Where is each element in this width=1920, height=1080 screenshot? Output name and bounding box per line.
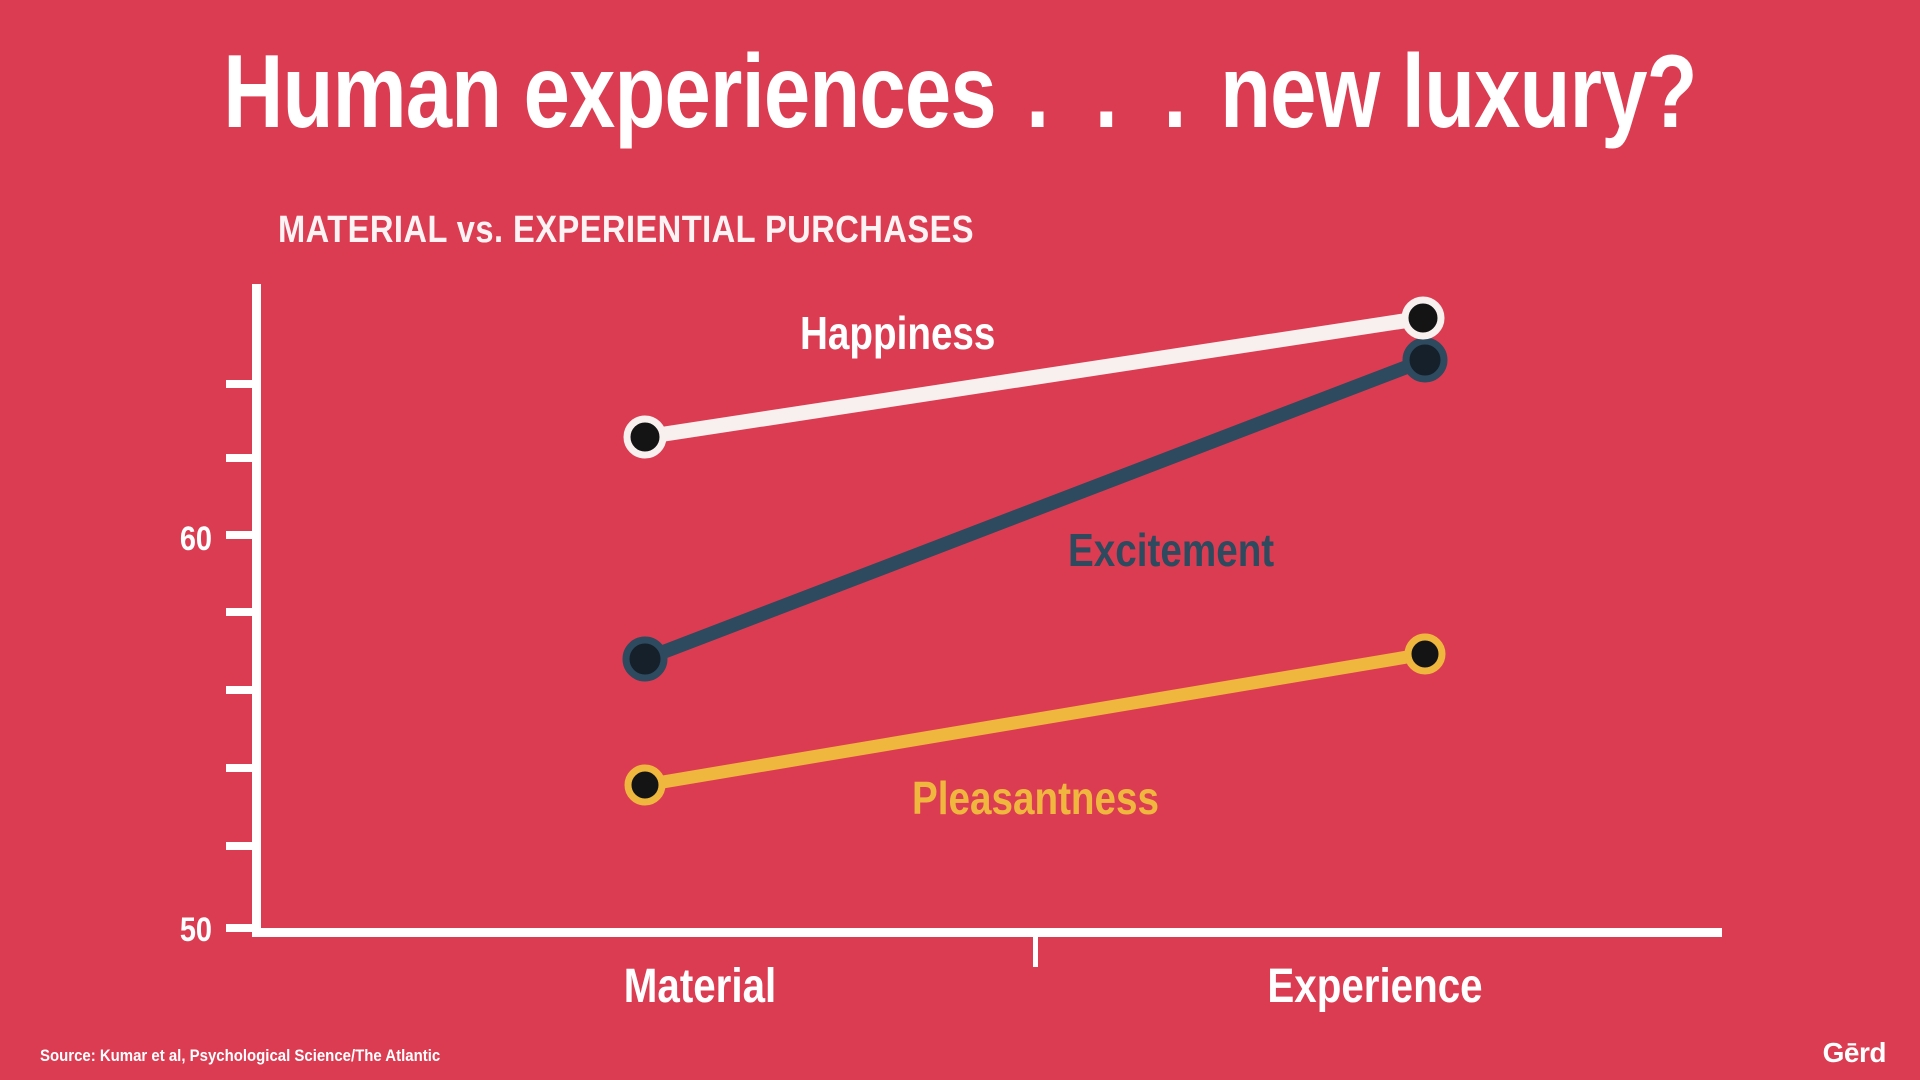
- y-tick-label-50: 50: [161, 913, 212, 947]
- y-axis-ticks: [226, 380, 256, 932]
- source-credit: Source: Kumar et al, Psychological Scien…: [40, 1046, 440, 1065]
- happiness-point-experience: [1405, 300, 1441, 336]
- brand-logo: Gērd: [1823, 1038, 1886, 1068]
- series-label-happiness: Happiness: [800, 310, 995, 356]
- x-category-experience: Experience: [1207, 962, 1543, 1012]
- excitement-line: [645, 360, 1425, 659]
- series-happiness: [627, 300, 1441, 455]
- happiness-line: [645, 318, 1423, 437]
- line-chart: [0, 0, 1920, 1080]
- series-excitement: [626, 341, 1444, 678]
- pleasantness-line: [645, 654, 1425, 785]
- y-tick-label-60: 60: [161, 522, 212, 556]
- x-category-material: Material: [532, 962, 868, 1012]
- x-axis-spine: [252, 928, 1722, 937]
- x-axis-center-tick: [1033, 937, 1038, 967]
- pleasantness-point-experience: [1408, 637, 1442, 671]
- pleasantness-point-material: [628, 768, 662, 802]
- happiness-point-material: [627, 419, 663, 455]
- slide-root: Human experiences . . . new luxury? MATE…: [0, 0, 1920, 1080]
- excitement-point-experience: [1406, 341, 1444, 379]
- excitement-point-material: [626, 640, 664, 678]
- series-label-excitement: Excitement: [1068, 527, 1274, 573]
- series-label-pleasantness: Pleasantness: [912, 775, 1159, 821]
